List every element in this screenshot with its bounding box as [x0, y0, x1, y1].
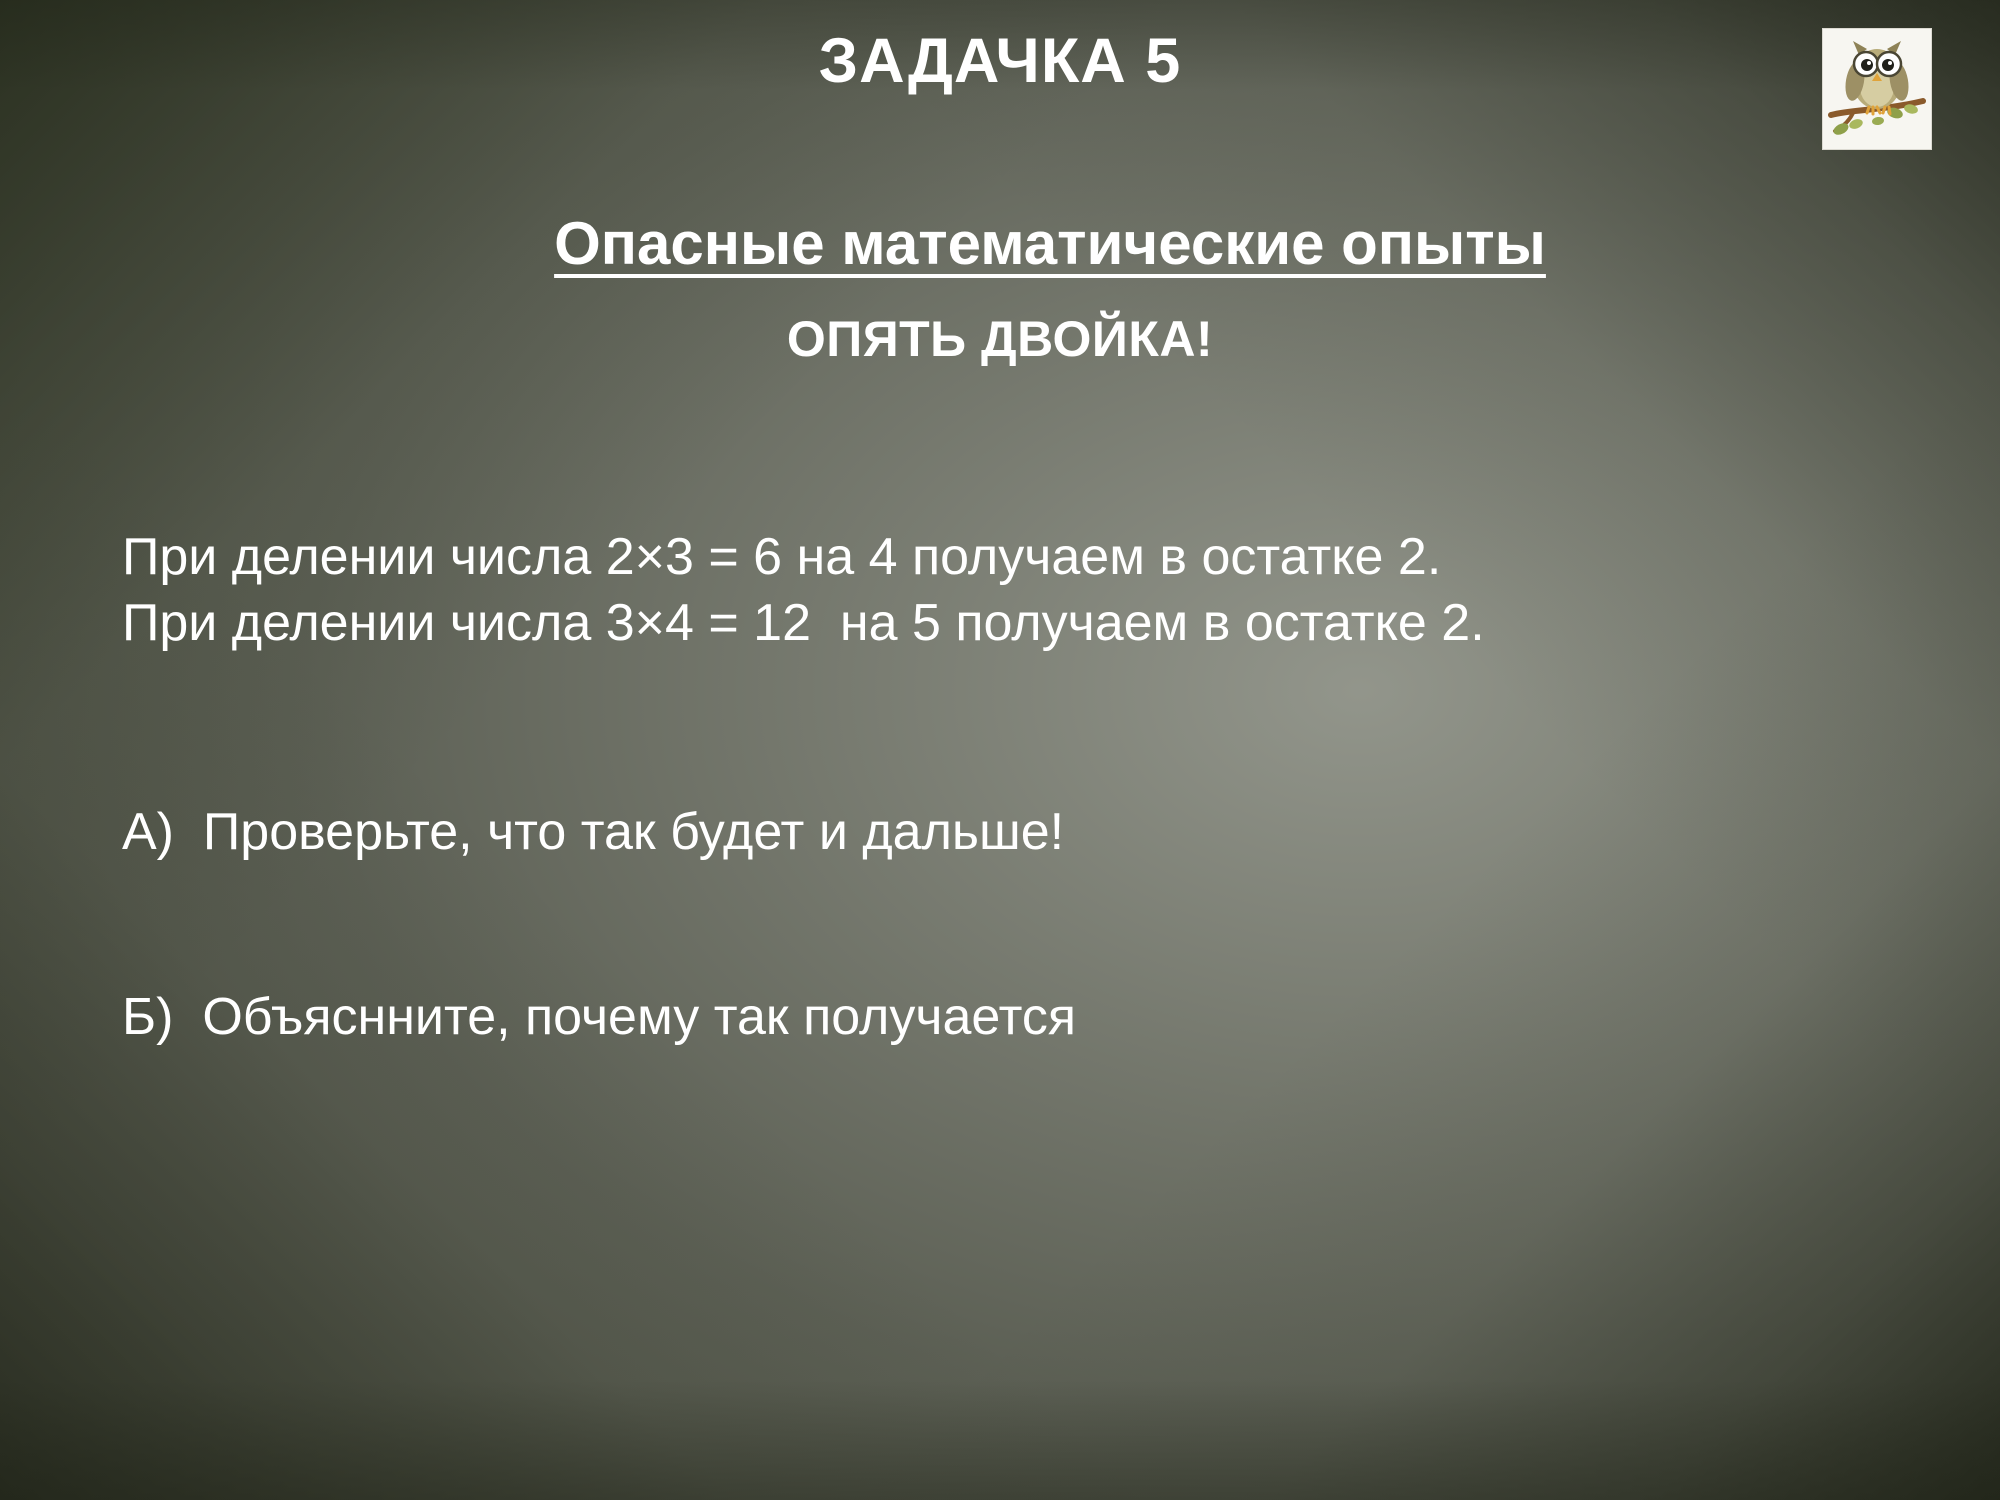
problem-line-1: При делении числа 2×3 = 6 на 4 получаем … [122, 525, 1922, 591]
owl-illustration-icon [1823, 29, 1931, 149]
question-item-b: Б) Объяснните, почему так получается [122, 985, 1076, 1051]
slide-subtitle-secondary: ОПЯТЬ ДВОЙКА! [0, 311, 2000, 369]
question-item-a: А) Проверьте, что так будет и дальше! [122, 800, 1064, 866]
problem-line-2: При делении числа 3×4 = 12 на 5 получаем… [122, 591, 1922, 657]
owl-on-branch-image [1822, 28, 1932, 150]
slide-content: ЗАДАЧКА 5 Опасные математические опыты О… [0, 0, 2000, 1500]
problem-statement: При делении числа 2×3 = 6 на 4 получаем … [122, 525, 1922, 656]
slide-subtitle: Опасные математические опыты [554, 210, 1546, 277]
presentation-slide: ЗАДАЧКА 5 Опасные математические опыты О… [0, 0, 2000, 1500]
slide-title: ЗАДАЧКА 5 [0, 26, 2000, 97]
